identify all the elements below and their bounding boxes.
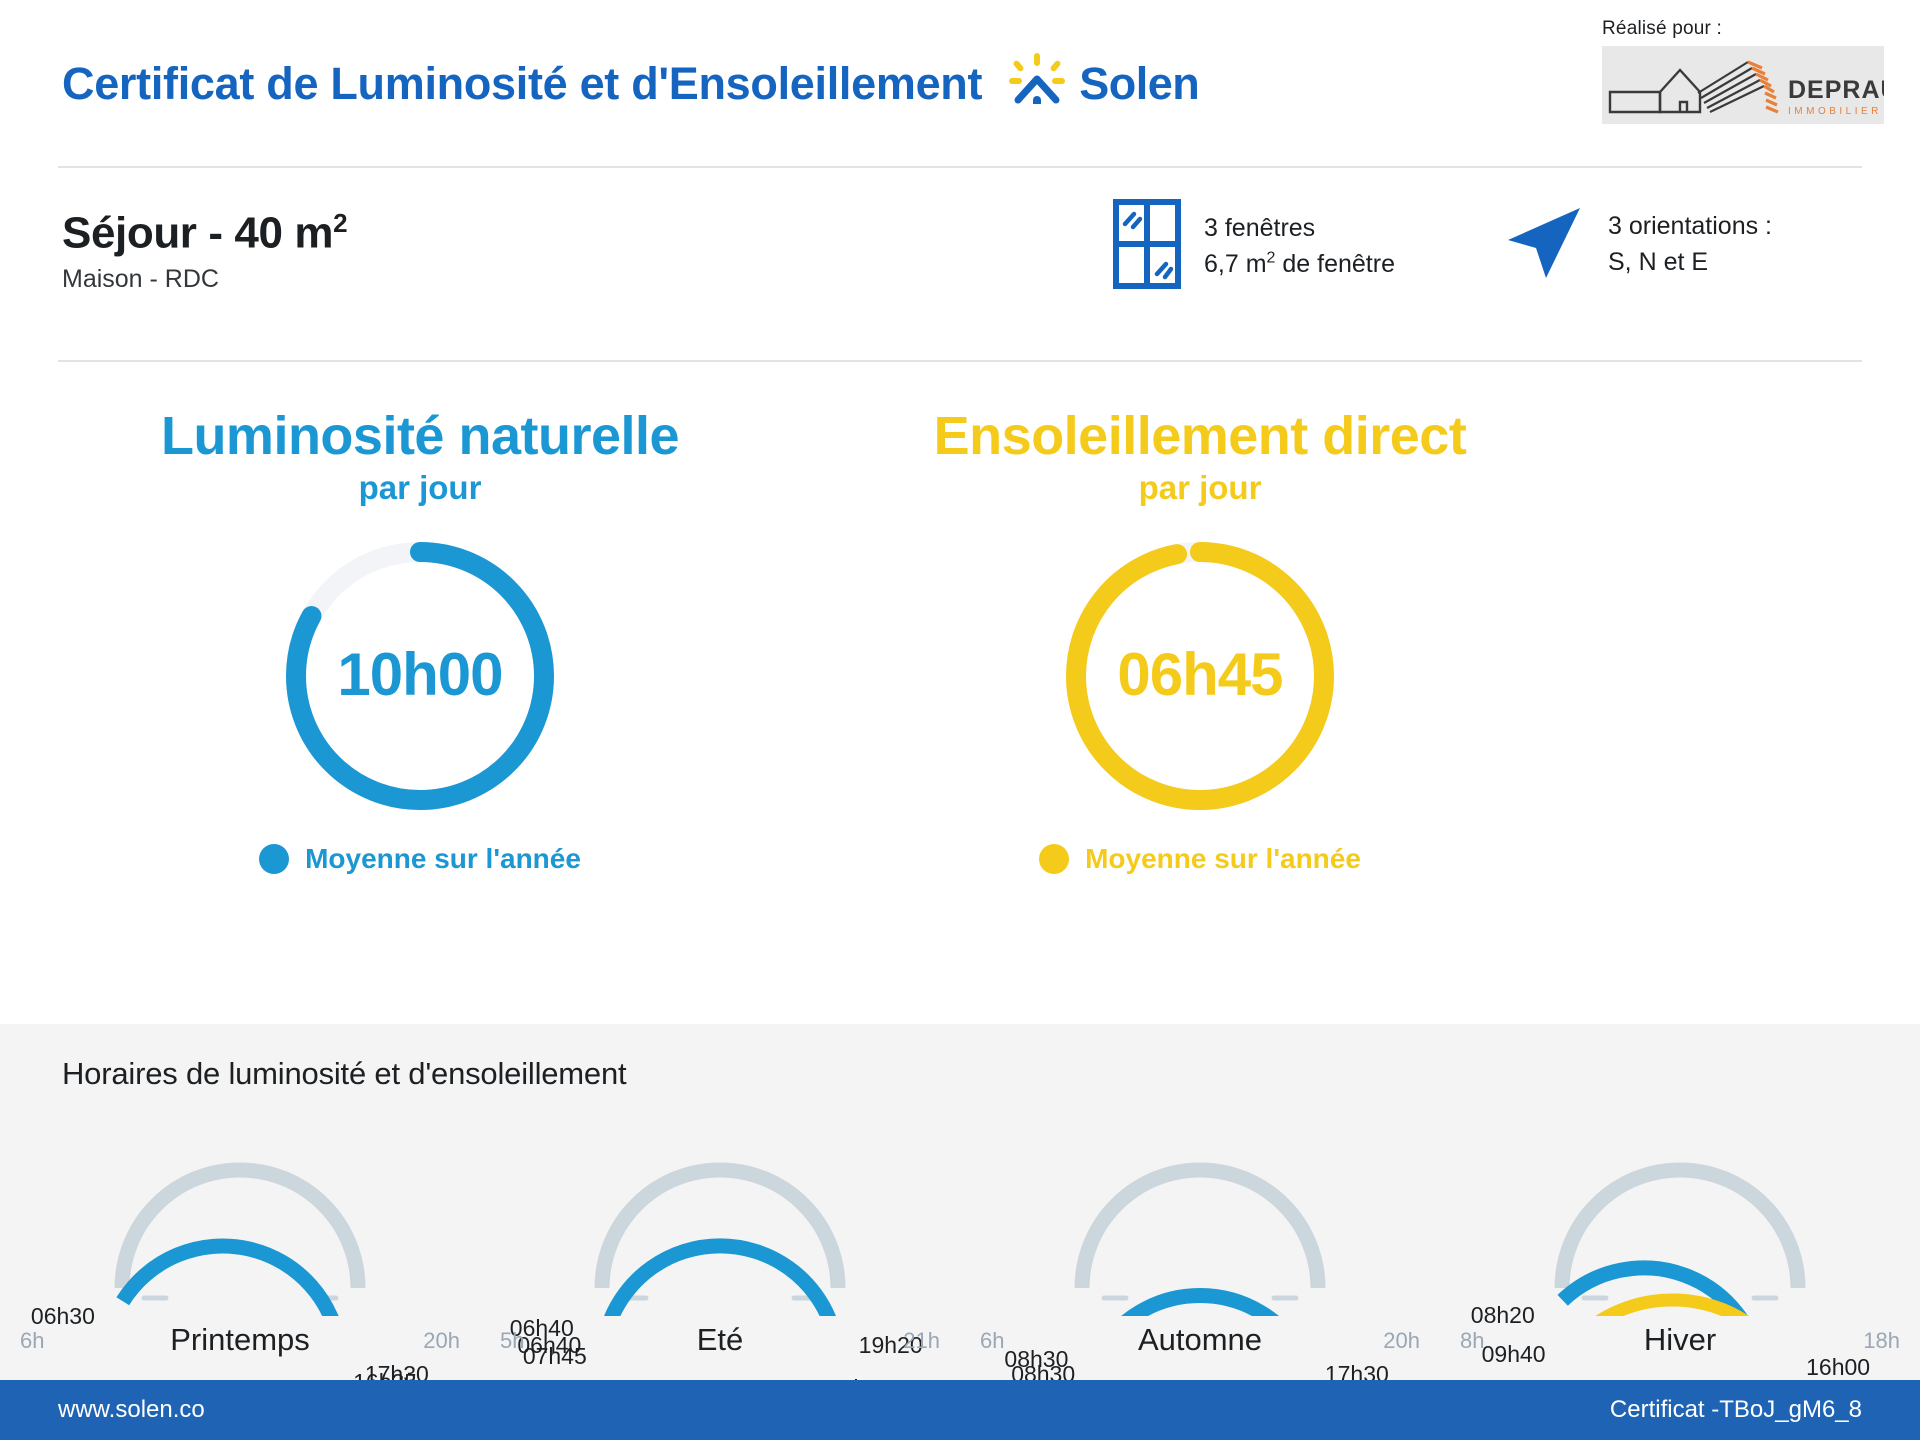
svg-text:DEPRAUW: DEPRAUW: [1788, 76, 1884, 104]
season-gauge: 09h4016h0008h2015h258h18hHiver: [1440, 1120, 1920, 1360]
certificate-page: Certificat de Luminosité et d'Ensoleille…: [0, 0, 1920, 1440]
orientation-text: 3 orientations : S, N et E: [1608, 209, 1772, 280]
divider-middle: [58, 360, 1862, 362]
room-subtitle: Maison - RDC: [62, 265, 219, 294]
sunlight-value: 06h45: [1055, 640, 1345, 709]
metrics-section: Luminosité naturelle par jour 10h00 Moye…: [0, 408, 1920, 1070]
realise-pour-label: Réalisé pour :: [1602, 18, 1722, 40]
sunlight-donut: 06h45: [1055, 531, 1345, 821]
sunlight-card: Ensoleillement direct par jour 06h45 Moy…: [840, 408, 1560, 875]
orientation-info: 3 orientations : S, N et E: [1502, 198, 1772, 291]
brand-name: Solen: [1079, 58, 1199, 110]
room-title-text: Séjour - 40 m: [62, 209, 333, 258]
sunlight-title: Ensoleillement direct: [840, 408, 1560, 465]
windows-info: 3 fenêtres 6,7 m2 de fenêtre: [1112, 198, 1395, 295]
page-footer: www.solen.co Certificat -TBoJ_gM6_8: [0, 1380, 1920, 1440]
orientation-count: 3 orientations :: [1608, 209, 1772, 245]
luminosity-card: Luminosité naturelle par jour 10h00 Moye…: [60, 408, 780, 875]
luminosity-legend-label: Moyenne sur l'année: [305, 843, 581, 875]
season-gauge: 08h3015h0008h3017h306h20hAutomne: [960, 1120, 1440, 1360]
luminosity-subtitle: par jour: [60, 469, 780, 507]
sunlight-legend-label: Moyenne sur l'année: [1085, 843, 1361, 875]
schedule-title: Horaires de luminosité et d'ensoleilleme…: [62, 1056, 626, 1092]
client-logo: DEPRAUW IMMOBILIER: [1602, 46, 1884, 124]
window-icon: [1112, 198, 1182, 295]
windows-area: 6,7 m2 de fenêtre: [1204, 247, 1395, 283]
windows-area-value: 6,7 m: [1204, 250, 1267, 278]
footer-certificate-id: Certificat -TBoJ_gM6_8: [1610, 1396, 1862, 1424]
title-row: Certificat de Luminosité et d'Ensoleille…: [62, 52, 1199, 115]
luminosity-legend: Moyenne sur l'année: [60, 843, 780, 875]
room-title: Séjour - 40 m2: [62, 208, 347, 259]
svg-text:IMMOBILIER: IMMOBILIER: [1788, 106, 1882, 117]
season-name: Printemps: [0, 1322, 480, 1358]
season-name: Hiver: [1440, 1322, 1920, 1358]
sunlight-legend-dot: [1039, 844, 1069, 874]
schedule-section: Horaires de luminosité et d'ensoleilleme…: [0, 1024, 1920, 1380]
windows-area-suffix: de fenêtre: [1275, 250, 1395, 278]
room-info-section: Séjour - 40 m2 Maison - RDC 3 fenêtr: [0, 168, 1920, 362]
windows-text: 3 fenêtres 6,7 m2 de fenêtre: [1204, 211, 1395, 282]
room-title-exponent: 2: [333, 208, 347, 238]
page-title: Certificat de Luminosité et d'Ensoleille…: [62, 58, 982, 110]
windows-count: 3 fenêtres: [1204, 211, 1395, 247]
gauge-graphic: 08h3015h0008h3017h30: [1035, 1120, 1365, 1316]
gauge-graphic: 09h4516h3506h3017h30: [75, 1120, 405, 1316]
season-gauge: 09h4516h3506h3017h306h20hPrintemps: [0, 1120, 480, 1360]
orientation-list: S, N et E: [1608, 245, 1772, 281]
season-gauges: 09h4516h3506h3017h306h20hPrintemps06h400…: [0, 1120, 1920, 1360]
footer-website[interactable]: www.solen.co: [58, 1396, 205, 1424]
compass-arrow-icon: [1502, 198, 1586, 291]
solen-brand: Solen: [1008, 52, 1199, 115]
season-name: Eté: [480, 1322, 960, 1358]
luminosity-donut: 10h00: [275, 531, 565, 821]
luminosity-legend-dot: [259, 844, 289, 874]
gauge-graphic: 06h4007h4510h4016h5006h4019h20: [555, 1120, 885, 1316]
gauge-graphic: 09h4016h0008h2015h25: [1515, 1120, 1845, 1316]
sunlight-subtitle: par jour: [840, 469, 1560, 507]
sun-house-icon: [1008, 52, 1066, 115]
season-name: Automne: [960, 1322, 1440, 1358]
luminosity-title: Luminosité naturelle: [60, 408, 780, 465]
sunlight-legend: Moyenne sur l'année: [840, 843, 1560, 875]
season-gauge: 06h4007h4510h4016h5006h4019h205h21hEté: [480, 1120, 960, 1360]
page-header: Certificat de Luminosité et d'Ensoleille…: [0, 0, 1920, 168]
luminosity-value: 10h00: [275, 640, 565, 709]
